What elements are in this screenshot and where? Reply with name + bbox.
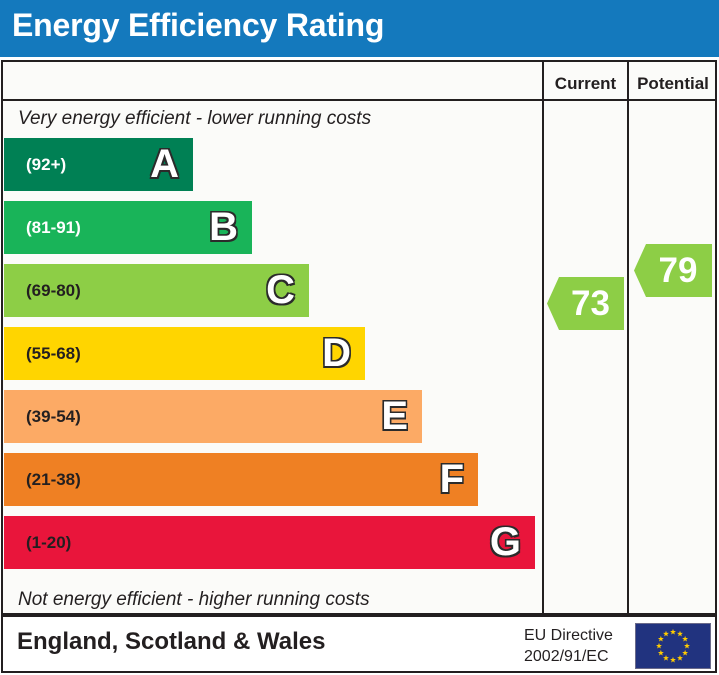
band-letter-label: B: [209, 207, 238, 247]
band-letter-label: E: [381, 396, 408, 436]
band-letter-label: C: [266, 270, 295, 310]
rating-band-e: (39-54)E: [4, 390, 422, 443]
column-header-potential: Potential: [629, 73, 717, 95]
band-range-label: (55-68): [26, 344, 81, 364]
directive-line-2: 2002/91/EC: [524, 646, 613, 667]
rating-band-g: (1-20)G: [4, 516, 535, 569]
rating-arrow-current: 73: [547, 277, 624, 330]
page-title: Energy Efficiency Rating: [12, 7, 384, 44]
band-range-label: (39-54): [26, 407, 81, 427]
rating-value-potential: 79: [649, 253, 698, 288]
band-range-label: (69-80): [26, 281, 81, 301]
rating-band-c: (69-80)C: [4, 264, 309, 317]
band-letter-label: D: [322, 333, 351, 373]
band-letter-label: G: [490, 522, 521, 562]
footer-region-label: England, Scotland & Wales: [17, 628, 325, 656]
epc-certificate: Energy Efficiency Rating Current Potenti…: [0, 0, 719, 675]
band-letter-label: F: [440, 459, 464, 499]
title-bar: Energy Efficiency Rating: [0, 0, 719, 57]
directive-line-1: EU Directive: [524, 625, 613, 646]
band-range-label: (1-20): [26, 533, 71, 553]
rating-band-f: (21-38)F: [4, 453, 478, 506]
caption-bottom: Not energy efficient - higher running co…: [18, 589, 370, 611]
column-divider-potential: [627, 60, 629, 615]
eu-flag-icon: [635, 623, 711, 669]
column-header-current: Current: [544, 73, 627, 95]
header-divider: [1, 99, 717, 101]
rating-arrow-potential: 79: [634, 244, 712, 297]
band-range-label: (92+): [26, 155, 66, 175]
rating-band-d: (55-68)D: [4, 327, 365, 380]
caption-top: Very energy efficient - lower running co…: [18, 108, 371, 130]
eu-flag-stars: [636, 624, 710, 668]
band-letter-label: A: [150, 144, 179, 184]
rating-band-b: (81-91)B: [4, 201, 252, 254]
rating-band-a: (92+)A: [4, 138, 193, 191]
band-range-label: (81-91): [26, 218, 81, 238]
band-range-label: (21-38): [26, 470, 81, 490]
rating-value-current: 73: [561, 286, 610, 321]
column-divider-current: [542, 60, 544, 615]
footer-directive-label: EU Directive 2002/91/EC: [524, 625, 613, 667]
